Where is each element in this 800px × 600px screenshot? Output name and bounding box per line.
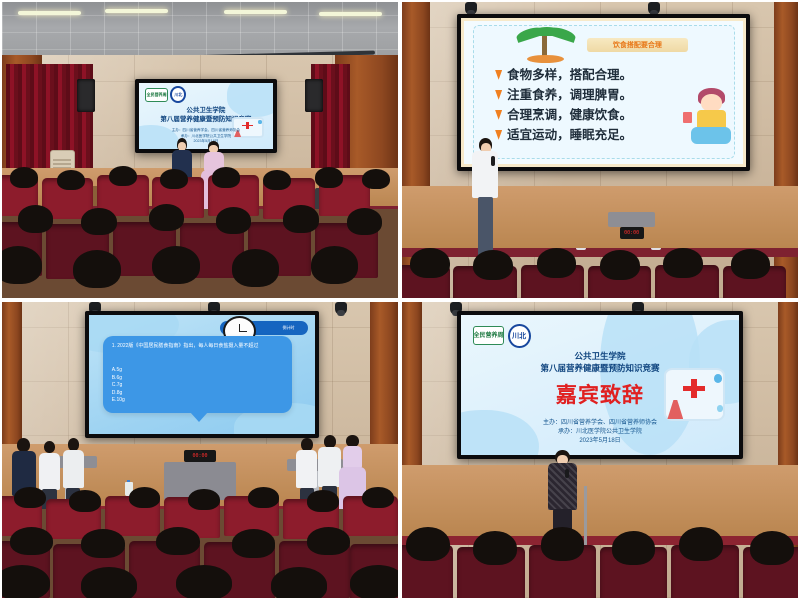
ceiling-light	[105, 9, 168, 13]
audience-head	[216, 207, 252, 234]
audience-head	[271, 567, 326, 598]
audience-head	[537, 248, 577, 278]
slide-title-4: 全民营养周 川北 公共卫生学院 第八届营养健康暨预防知识竞赛 嘉宾致辞	[461, 315, 738, 455]
slide-line-3: 合理烹调，健康饮食。	[495, 104, 632, 123]
red-cross-icon	[242, 125, 253, 127]
audience-4	[402, 527, 798, 598]
palm-sand	[527, 55, 564, 63]
projection-screen-4: 全民营养周 川北 公共卫生学院 第八届营养健康暨预防知识竞赛 嘉宾致辞	[457, 311, 742, 459]
quiz-option-a: A.5g	[112, 367, 125, 375]
quiz-options: A.5g B.6g C.7g D.8g E.10g	[112, 367, 125, 405]
slide-line-4: 适宜运动，睡眠充足。	[495, 124, 632, 143]
audience-head	[473, 531, 517, 565]
palm-leaf	[548, 25, 577, 43]
stage-console	[608, 212, 656, 227]
audience-head	[541, 527, 585, 561]
nutrition-week-logo-label: 全民营养周	[147, 93, 167, 97]
capsule-dot-icon	[258, 120, 262, 123]
audience-head	[232, 529, 276, 557]
slide-line-1-text: 食物多样，搭配合理。	[507, 64, 632, 83]
slide-line-2-text: 注重食养，调理脾胃。	[507, 84, 632, 103]
carrot-bullet-icon	[495, 107, 502, 120]
juice-cup-icon	[683, 112, 692, 123]
university-seal-label: 川北	[512, 331, 526, 341]
audience-head	[315, 167, 343, 187]
audience-head	[212, 167, 240, 187]
audience-head	[81, 529, 125, 557]
auditorium-scene-3: 倒计时 1. 2022版《中国居民膳食指南》指出，每人每日食盐摄入量不超过 A.…	[2, 302, 398, 598]
screen-surface-3: 倒计时 1. 2022版《中国居民膳食指南》指出，每人每日食盐摄入量不超过 A.…	[89, 315, 315, 434]
audience-head	[410, 248, 450, 278]
audience-head	[406, 527, 450, 561]
audience-head	[283, 205, 319, 232]
ceiling-light	[18, 11, 81, 15]
audience-head	[188, 489, 220, 510]
carrot-bullet-icon	[495, 87, 502, 100]
auditorium-scene-2: 饮食搭配要合理 食物多样，搭配合理。 注重食养，调理脾胃。 合理烹调，健康饮食。	[402, 2, 798, 298]
slide-heading-line1: 公共卫生学院	[139, 106, 274, 115]
audience-head	[307, 527, 351, 555]
nutrition-week-logo-icon: 全民营养周	[473, 326, 505, 345]
audience-head	[350, 565, 398, 598]
audience-head	[10, 167, 38, 187]
audience-2	[402, 248, 798, 298]
audience-head	[57, 170, 85, 190]
contestant-head	[301, 438, 312, 451]
audience-1	[2, 162, 398, 298]
slide-line-3-text: 合理烹调，健康饮食。	[507, 104, 632, 123]
audience-3	[2, 480, 398, 598]
led-timer-3: 00:00	[184, 450, 216, 462]
cartoon-kid-icon	[688, 87, 735, 153]
audience-head	[156, 527, 200, 555]
audience-head	[750, 531, 794, 565]
loudspeaker	[305, 79, 323, 112]
countdown-timer-label: 倒计时	[282, 325, 294, 331]
audience-head	[2, 565, 50, 598]
audience-head	[731, 249, 771, 279]
led-timer-2: 00:00	[620, 227, 644, 239]
collage-panel-bottom-left: 倒计时 1. 2022版《中国居民膳食指南》指出，每人每日食盐摄入量不超过 A.…	[2, 302, 398, 598]
audience-head	[679, 527, 723, 561]
audience-head	[73, 250, 121, 288]
audience-head	[81, 208, 117, 235]
nutrition-week-logo-icon: 全民营养周	[145, 88, 167, 102]
university-seal-icon: 川北	[170, 86, 186, 103]
kid-legs	[691, 127, 731, 144]
audience-head	[176, 565, 231, 598]
audience-head	[263, 170, 291, 190]
audience-head	[311, 246, 359, 284]
slide-footer-line2: 承办：川北医学院公共卫生学院	[461, 428, 738, 437]
slide-banner-2: 饮食搭配要合理	[587, 38, 687, 52]
screen-surface-4: 全民营养周 川北 公共卫生学院 第八届营养健康暨预防知识竞赛 嘉宾致辞	[461, 315, 738, 455]
auditorium-scene-4: 全民营养周 川北 公共卫生学院 第八届营养健康暨预防知识竞赛 嘉宾致辞	[402, 302, 798, 598]
kid-head	[701, 94, 722, 111]
audience-head	[362, 487, 394, 508]
slide-line-1: 食物多样，搭配合理。	[495, 64, 632, 83]
water-bottle	[576, 248, 586, 250]
slide-footer-line1: 主办：四川省营养学会、四川省营养师协会	[461, 419, 738, 428]
audience-head	[10, 527, 54, 555]
collage-panel-top-left: 全民营养周 川北 公共卫生学院 第八届营养健康暨预防知识竞赛	[2, 2, 398, 298]
collage-panel-bottom-right: 全民营养周 川北 公共卫生学院 第八届营养健康暨预防知识竞赛 嘉宾致辞	[402, 302, 798, 598]
university-seal-icon: 川北	[508, 324, 531, 348]
audience-head	[663, 248, 703, 278]
stage-spotlight-icon	[335, 302, 347, 315]
slide-footer-line3: 2023年5月18日	[461, 437, 738, 446]
audience-head	[149, 204, 185, 231]
contestant-head	[324, 435, 336, 448]
quiz-question: 1. 2022版《中国居民膳食指南》指出，每人每日食盐摄入量不超过	[112, 343, 283, 350]
quiz-option-d: D.8g	[112, 390, 125, 398]
slide-logos-1: 全民营养周 川北	[145, 88, 186, 103]
screen-surface-2: 饮食搭配要合理 食物多样，搭配合理。 注重食养，调理脾胃。 合理烹调，健康饮食。	[461, 18, 746, 167]
host-dress-top	[343, 446, 362, 468]
palm-trunk	[542, 36, 547, 55]
medical-illustration-4	[664, 368, 725, 421]
audience-head	[2, 246, 42, 284]
palm-tree-icon	[515, 27, 576, 64]
host-head	[17, 438, 30, 452]
audience-head	[307, 490, 339, 511]
audience-head	[69, 490, 101, 511]
ceiling-light	[224, 10, 287, 14]
quiz-option-b: B.6g	[112, 375, 125, 383]
nutrition-week-logo-label: 全民营养周	[473, 333, 503, 339]
slide-title-1: 全民营养周 川北 公共卫生学院 第八届营养健康暨预防知识竞赛	[139, 83, 274, 149]
audience-head	[612, 531, 656, 565]
audience-head	[81, 567, 136, 598]
audience-head	[232, 249, 280, 287]
contestant-head	[68, 438, 79, 451]
red-cross-icon	[683, 386, 705, 391]
audience-head	[160, 169, 188, 189]
water-bottle	[651, 248, 661, 250]
slide-food-2: 饮食搭配要合理 食物多样，搭配合理。 注重食养，调理脾胃。 合理烹调，健康饮食。	[461, 18, 746, 167]
slide-line-2: 注重食养，调理脾胃。	[495, 84, 632, 103]
audience-head	[600, 250, 640, 280]
projection-screen-3: 倒计时 1. 2022版《中国居民膳食指南》指出，每人每日食盐摄入量不超过 A.…	[85, 311, 319, 438]
quiz-option-e: E.10g	[112, 397, 125, 405]
contestant-head	[44, 441, 55, 453]
auditorium-scene-1: 全民营养周 川北 公共卫生学院 第八届营养健康暨预防知识竞赛	[2, 2, 398, 298]
speaker-blouse	[548, 463, 577, 510]
audience-head	[248, 487, 280, 508]
loudspeaker	[77, 79, 95, 112]
audience-head	[129, 487, 161, 508]
projection-screen-2: 饮食搭配要合理 食物多样，搭配合理。 注重食养，调理脾胃。 合理烹调，健康饮食。	[457, 14, 750, 171]
photo-collage: 全民营养周 川北 公共卫生学院 第八届营养健康暨预防知识竞赛	[0, 0, 800, 600]
ceiling-light	[319, 12, 382, 16]
slide-heading-line1: 公共卫生学院	[461, 350, 738, 362]
audience-head	[14, 487, 46, 508]
slide-quiz-3: 倒计时 1. 2022版《中国居民膳食指南》指出，每人每日食盐摄入量不超过 A.…	[89, 315, 315, 434]
screen-surface-1: 全民营养周 川北 公共卫生学院 第八届营养健康暨预防知识竞赛	[139, 83, 274, 149]
audience-head	[152, 246, 200, 284]
carrot-bullet-icon	[495, 67, 502, 80]
university-seal-label: 川北	[174, 92, 182, 98]
microphone-icon	[565, 469, 569, 478]
slide-logos-4: 全民营养周 川北	[473, 322, 531, 350]
stage-floor-2	[402, 186, 798, 251]
slide-line-4-text: 适宜运动，睡眠充足。	[507, 124, 632, 143]
quiz-option-c: C.7g	[112, 382, 125, 390]
slide-footer-4: 主办：四川省营养学会、四川省营养师协会 承办：川北医学院公共卫生学院 2023年…	[461, 419, 738, 446]
audience-head	[362, 169, 390, 189]
audience-head	[473, 250, 513, 280]
audience-head	[109, 166, 137, 186]
audience-head	[18, 205, 54, 232]
collage-panel-top-right: 饮食搭配要合理 食物多样，搭配合理。 注重食养，调理脾胃。 合理烹调，健康饮食。	[402, 2, 798, 298]
audience-head	[347, 208, 383, 235]
